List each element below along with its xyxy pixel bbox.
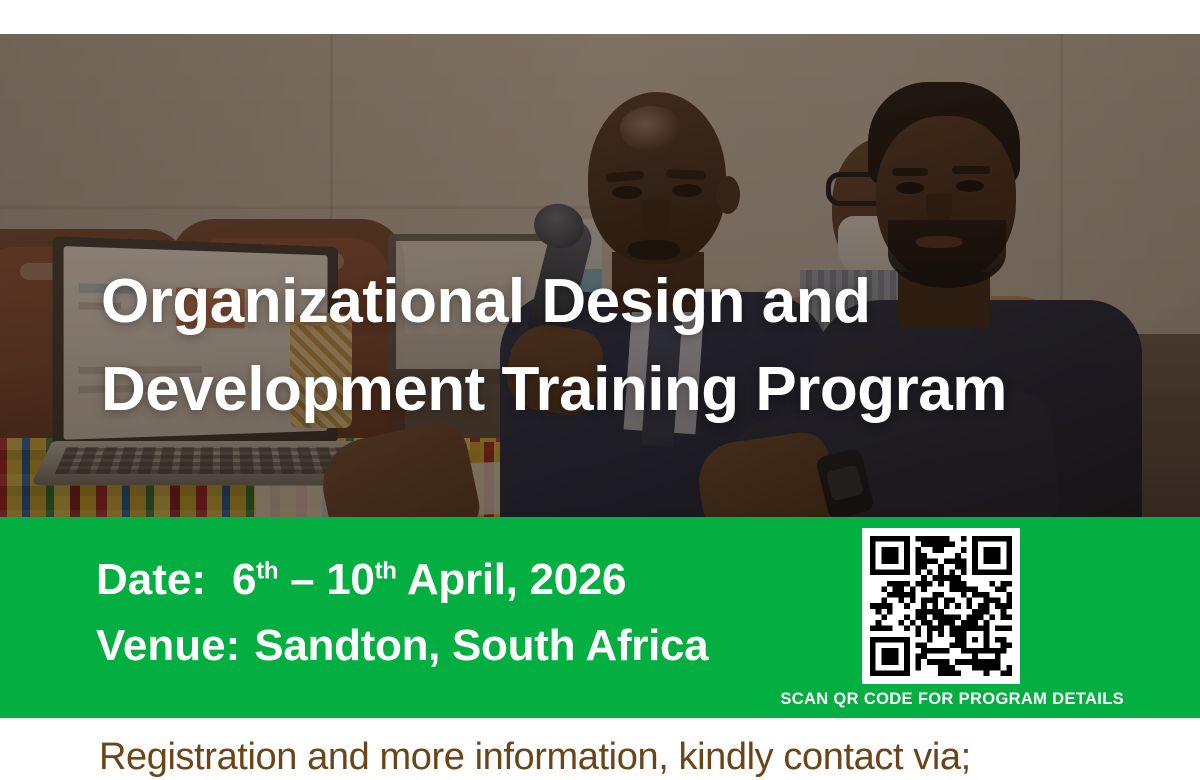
details-banner: Date: 6th – 10th April, 2026 Venue: Sand… <box>0 517 1200 718</box>
venue-label: Venue: <box>96 613 240 679</box>
venue-value: Sandton, South Africa <box>254 613 708 679</box>
event-details: Date: 6th – 10th April, 2026 Venue: Sand… <box>96 547 708 679</box>
date-ordinal-end: th <box>375 557 397 584</box>
venue-row: Venue: Sandton, South Africa <box>96 613 708 679</box>
qr-code-canvas <box>870 536 1012 676</box>
date-month-year: April, 2026 <box>407 555 626 604</box>
headline-line-1: Organizational Design and <box>101 258 1061 346</box>
hero-photo: Organizational Design and Development Tr… <box>0 34 1200 517</box>
date-row: Date: 6th – 10th April, 2026 <box>96 547 708 613</box>
footer-strip: Registration and more information, kindl… <box>0 718 1200 770</box>
headline-line-2: Development Training Program <box>101 346 1061 434</box>
date-day-end: 10 <box>326 555 374 604</box>
top-margin <box>0 0 1200 34</box>
date-range-dash: – <box>290 555 314 604</box>
page-title: Organizational Design and Development Tr… <box>101 258 1061 434</box>
date-label: Date: <box>96 547 206 613</box>
qr-caption: SCAN QR CODE FOR PROGRAM DETAILS <box>724 690 1124 709</box>
date-day-start: 6 <box>232 555 256 604</box>
date-ordinal-start: th <box>256 557 278 584</box>
qr-code-icon[interactable] <box>862 528 1020 684</box>
date-value: 6th – 10th April, 2026 <box>220 547 626 613</box>
event-flyer: Organizational Design and Development Tr… <box>0 0 1200 770</box>
contact-text: Registration and more information, kindl… <box>99 734 971 780</box>
